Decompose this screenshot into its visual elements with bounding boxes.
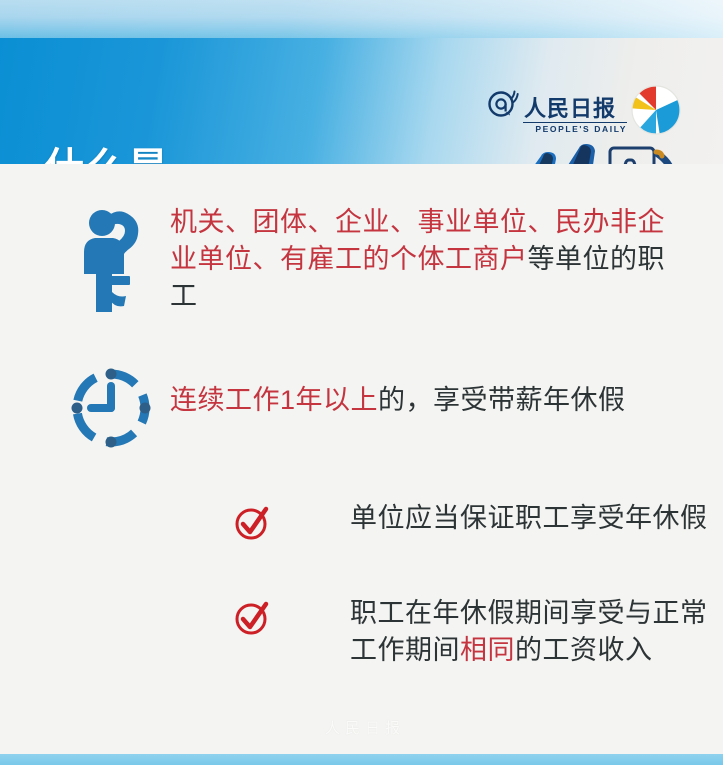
- list-item-text: 连续工作1年以上的，享受带薪年休假: [170, 362, 710, 419]
- check-circle-icon: [0, 595, 350, 638]
- swim-flippers-icon: [521, 144, 595, 164]
- list-item: 机关、团体、企业、事业单位、民办非企业单位、有雇工的个体工商户等单位的职工: [0, 164, 723, 316]
- person-question-icon: [0, 204, 170, 316]
- watermark: 人民日报: [250, 712, 480, 746]
- header-banner: 什么是 带薪年休假 人民日报 PEOPLE'S DAILY: [0, 38, 723, 164]
- peoples-daily-logo: 人民日报 PEOPLE'S DAILY: [487, 88, 627, 136]
- list-item-text: 职工在年休假期间享受与正常工作期间相同的工资收入: [350, 595, 723, 669]
- check-circle-icon: [0, 500, 350, 543]
- bottom-accent-strip: [0, 754, 723, 765]
- logo-brand-cn: 人民日报: [524, 98, 616, 120]
- clock-icon: [0, 362, 170, 452]
- list-item-text-normal: 的，享受带薪年休假: [378, 385, 626, 415]
- list-item-text-highlight: 连续工作1年以上: [170, 385, 378, 415]
- logo-brand-en: PEOPLE'S DAILY: [523, 122, 627, 134]
- list-item-text-normal: 单位应当保证职工享受年休假: [350, 503, 708, 533]
- page-title: 什么是 带薪年休假: [44, 48, 254, 164]
- list-item: 单位应当保证职工享受年休假: [0, 452, 723, 543]
- logo-main-row: 人民日报: [487, 88, 627, 120]
- list-item-text-highlight: 相同: [460, 635, 515, 665]
- content-area: 机关、团体、企业、事业单位、民办非企业单位、有雇工的个体工商户等单位的职工 连续…: [0, 164, 723, 669]
- page-title-line1: 什么是: [44, 144, 254, 164]
- list-item: 连续工作1年以上的，享受带薪年休假: [0, 316, 723, 452]
- list-item-text: 单位应当保证职工享受年休假: [350, 500, 723, 537]
- list-item: 职工在年休假期间享受与正常工作期间相同的工资收入: [0, 543, 723, 669]
- at-sign-icon: [487, 88, 521, 120]
- beach-ball-icon: [630, 84, 682, 136]
- sky-background-strip: [0, 0, 723, 38]
- list-item-text-normal-2: 的工资收入: [515, 635, 653, 665]
- list-item-text: 机关、团体、企业、事业单位、民办非企业单位、有雇工的个体工商户等单位的职工: [170, 204, 670, 315]
- diving-gear-group: [498, 142, 698, 164]
